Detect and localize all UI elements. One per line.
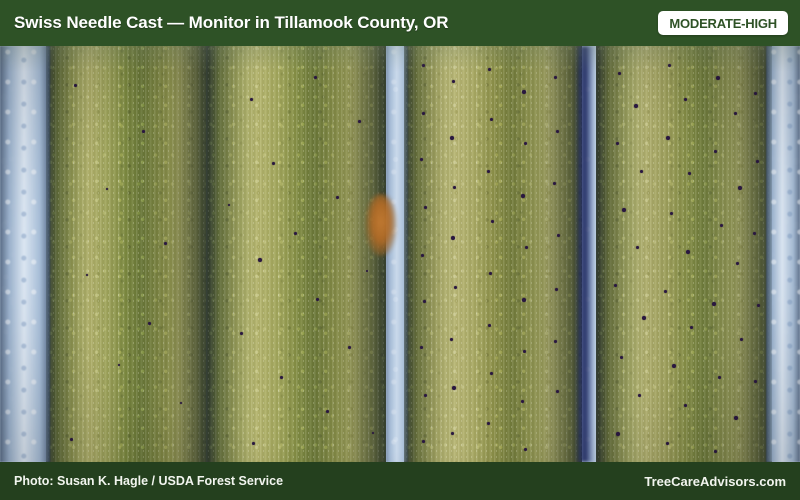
- gap-speckle: [0, 46, 50, 462]
- needle-3: [404, 46, 582, 462]
- severity-status-badge: MODERATE-HIGH: [658, 11, 788, 35]
- needle-gap-2: [386, 46, 408, 462]
- photo-credit: Photo: Susan K. Hagle / USDA Forest Serv…: [14, 474, 283, 488]
- gap-speckle: [766, 46, 800, 462]
- pseudothecia-layer: [596, 46, 772, 462]
- gap-speckle: [386, 46, 408, 462]
- disease-alert-card: Swiss Needle Cast — Monitor in Tillamook…: [0, 0, 800, 500]
- rust-lesion-patch: [366, 194, 396, 256]
- needle-gap-left: [0, 46, 50, 462]
- needle-1: [46, 46, 206, 462]
- needle-edge-blue-band: [575, 46, 595, 462]
- needle-microscope-photo: [0, 46, 800, 462]
- pseudothecia-layer: [206, 46, 386, 462]
- header-bar: Swiss Needle Cast — Monitor in Tillamook…: [0, 0, 800, 46]
- footer-bar: Photo: Susan K. Hagle / USDA Forest Serv…: [0, 462, 800, 500]
- site-name: TreeCareAdvisors.com: [644, 474, 786, 489]
- page-title: Swiss Needle Cast — Monitor in Tillamook…: [14, 13, 448, 33]
- focus-falloff-top: [0, 46, 800, 72]
- needle-2: [206, 46, 386, 462]
- pseudothecia-layer: [404, 46, 582, 462]
- needle-gap-right: [766, 46, 800, 462]
- pseudothecia-layer: [46, 46, 206, 462]
- needle-4: [596, 46, 772, 462]
